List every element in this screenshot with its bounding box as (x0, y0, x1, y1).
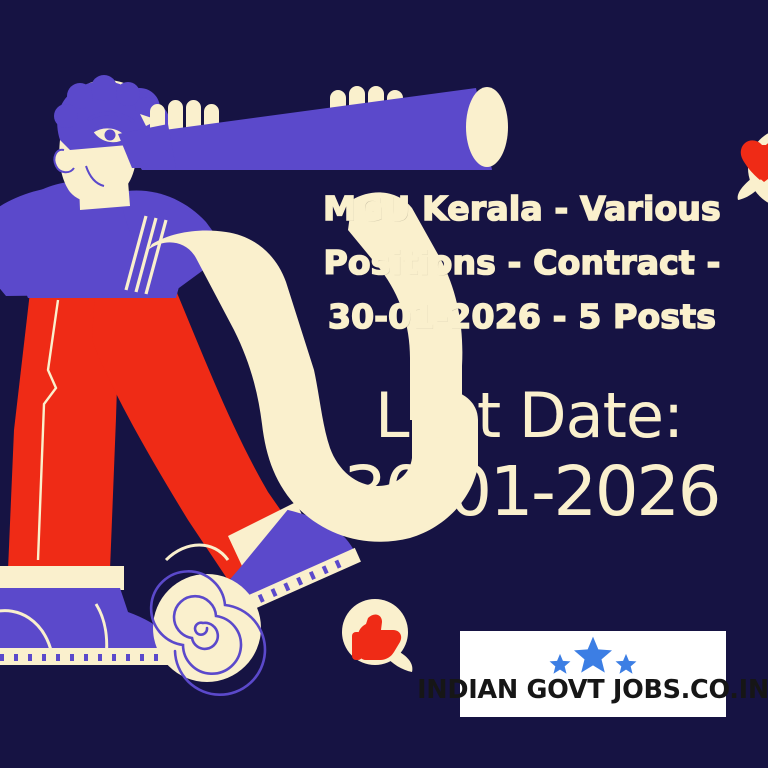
eyebrow (88, 113, 134, 122)
shirt-sleeve (120, 190, 228, 296)
back-boot (0, 588, 180, 660)
back-boot-detail (0, 611, 52, 654)
telescope-barrel (120, 88, 492, 170)
thumbs-up-icon (358, 615, 401, 660)
telescope-eyepiece (118, 124, 176, 168)
headline-line-3: 30-01-2026 - 5 Posts (296, 290, 748, 344)
near-hand (148, 100, 224, 156)
front-leg (92, 288, 300, 580)
headline-line-1: MGU Kerala - Various (296, 182, 748, 236)
logo-stars (460, 641, 726, 675)
telescope-lens (466, 87, 508, 167)
headline-line-2: Positions - Contract - (296, 236, 748, 290)
spiral-circle (151, 571, 265, 694)
thumbs-up-bubble (342, 599, 412, 672)
neck (78, 156, 130, 210)
job-notification-poster: MGU Kerala - Various Positions - Contrac… (0, 0, 768, 768)
headline: MGU Kerala - Various Positions - Contrac… (296, 182, 748, 344)
hair-curl (146, 104, 164, 131)
back-boot-sole (0, 648, 184, 665)
star-icon-center (573, 635, 613, 675)
star-icon-left (549, 653, 571, 675)
site-logo-badge[interactable]: INDIAN GOVT JOBS.CO.IN (460, 631, 726, 717)
back-boot-toe-line (96, 604, 107, 658)
back-boot-cuff (0, 566, 124, 590)
heart-icon (743, 144, 768, 180)
nose-highlight (140, 114, 158, 126)
logo-wordmark: INDIAN GOVT JOBS.CO.IN (417, 675, 768, 705)
last-date-value: 30-01-2026 (300, 457, 762, 527)
eye (92, 127, 128, 143)
front-boot-detail (166, 545, 228, 560)
back-leg-seam (38, 300, 58, 560)
hair (54, 75, 169, 150)
face-line (86, 166, 104, 186)
back-leg (8, 292, 120, 570)
star-icon-right (615, 653, 637, 675)
last-date-label: Last Date: (300, 384, 762, 447)
head (59, 80, 154, 203)
back-boot-sole-notches (0, 654, 172, 661)
shirt-torso (12, 181, 186, 298)
shirt-body (0, 187, 178, 296)
sleeve-stripes (126, 216, 166, 294)
front-boot-sole (185, 548, 361, 637)
last-date-block: Last Date: 30-01-2026 (300, 384, 762, 528)
far-hand (328, 86, 408, 152)
front-boot-cuff (228, 502, 310, 566)
ear (54, 150, 74, 173)
